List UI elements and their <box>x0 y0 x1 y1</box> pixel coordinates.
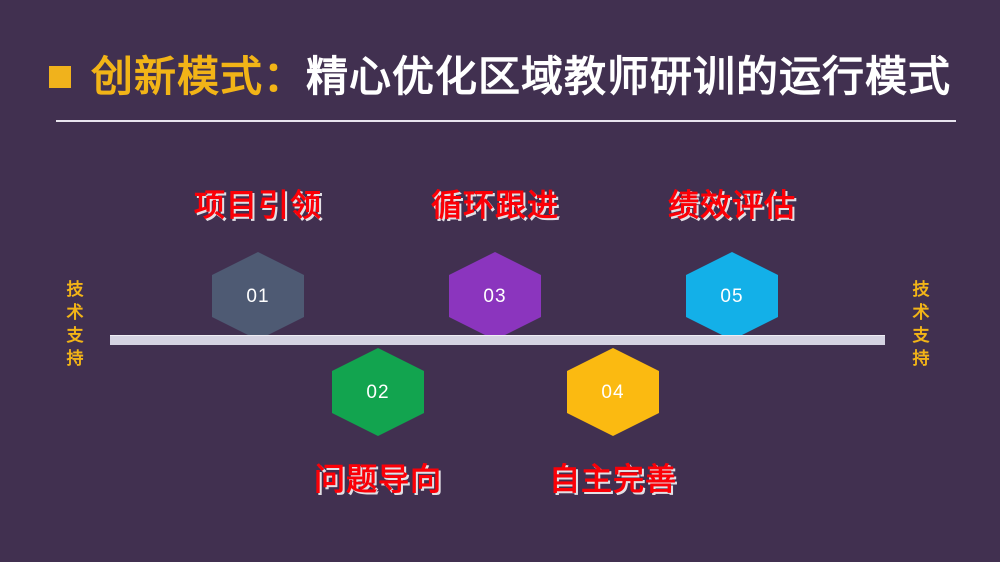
timeline-node-04[interactable]: 04 自主完善 <box>567 348 659 436</box>
hexagon-03-polygon <box>449 252 541 340</box>
hexagon-04[interactable]: 04 <box>567 348 659 436</box>
node-caption-05: 绩效评估 <box>592 188 872 224</box>
axis-label-right-char-3: 支 <box>904 324 938 347</box>
hexagon-01[interactable]: 01 <box>212 252 304 340</box>
page-title-accent: 创新模式： <box>91 53 306 101</box>
hexagon-05[interactable]: 05 <box>686 252 778 340</box>
hexagon-01-shape <box>212 252 304 340</box>
axis-label-right-char-2: 术 <box>904 301 938 324</box>
axis-label-right: 技 术 支 持 <box>904 278 938 370</box>
axis-label-left-char-1: 技 <box>58 278 92 301</box>
hexagon-03[interactable]: 03 <box>449 252 541 340</box>
timeline-axis-bar <box>110 335 885 345</box>
page-title: 创新模式： 精心优化区域教师研训的运行模式 <box>0 46 1000 108</box>
axis-label-right-char-1: 技 <box>904 278 938 301</box>
hexagon-01-polygon <box>212 252 304 340</box>
title-bullet-square-icon <box>49 66 71 88</box>
hexagon-02-shape <box>332 348 424 436</box>
node-caption-04: 自主完善 <box>473 462 753 498</box>
hexagon-04-shape <box>567 348 659 436</box>
page-title-main: 精心优化区域教师研训的运行模式 <box>306 53 951 101</box>
hexagon-05-polygon <box>686 252 778 340</box>
hexagon-04-polygon <box>567 348 659 436</box>
timeline-node-02[interactable]: 02 问题导向 <box>332 348 424 436</box>
timeline-node-05[interactable]: 绩效评估 05 <box>686 252 778 340</box>
axis-label-left-char-3: 支 <box>58 324 92 347</box>
axis-label-right-char-4: 持 <box>904 347 938 370</box>
slide-canvas: 创新模式： 精心优化区域教师研训的运行模式 技 术 支 持 技 术 支 持 项目… <box>0 0 1000 562</box>
timeline-node-01[interactable]: 项目引领 01 <box>212 252 304 340</box>
hexagon-02[interactable]: 02 <box>332 348 424 436</box>
title-divider <box>56 120 956 122</box>
axis-label-left-char-4: 持 <box>58 347 92 370</box>
axis-label-left-char-2: 术 <box>58 301 92 324</box>
hexagon-03-shape <box>449 252 541 340</box>
hexagon-02-polygon <box>332 348 424 436</box>
timeline-node-03[interactable]: 循环跟进 03 <box>449 252 541 340</box>
hexagon-05-shape <box>686 252 778 340</box>
axis-label-left: 技 术 支 持 <box>58 278 92 370</box>
